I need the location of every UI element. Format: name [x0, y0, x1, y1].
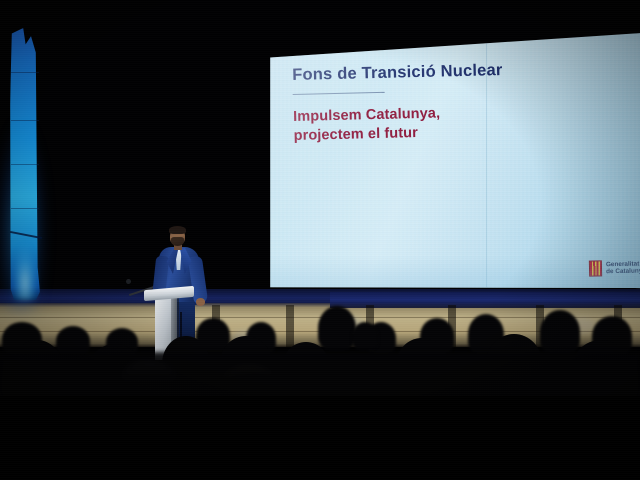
screen-bottom-shading: [268, 255, 640, 292]
audience-head: [540, 310, 580, 354]
photo-scene: Fons de Transició Nuclear Impulsem Catal…: [0, 0, 640, 480]
audience-head: [352, 322, 378, 350]
column-seam: [11, 72, 39, 73]
slide-subtitle: Impulsem Catalunya, projectem el futur: [293, 101, 594, 146]
wall-pilaster: [286, 305, 294, 347]
speaker-hair: [169, 226, 186, 234]
column-seam: [11, 208, 39, 209]
column-seam: [11, 120, 39, 121]
stage-skirt-right: [330, 292, 640, 308]
blue-lit-column: [4, 28, 52, 300]
slide-title: Fons de Transició Nuclear: [292, 59, 592, 85]
lectern-desk: [144, 286, 194, 301]
speaker-hand: [196, 298, 205, 306]
column-highlight: [13, 216, 37, 300]
column-seam: [11, 164, 39, 165]
slide-text-block: Fons de Transició Nuclear Impulsem Catal…: [292, 59, 594, 146]
projection-screen: Fons de Transició Nuclear Impulsem Catal…: [268, 30, 640, 292]
speaker-beard: [171, 237, 184, 246]
foreground-darkness: [0, 396, 640, 480]
audience-head: [318, 306, 356, 350]
microphone-head: [126, 279, 131, 284]
slide-divider-rule: [293, 92, 385, 95]
